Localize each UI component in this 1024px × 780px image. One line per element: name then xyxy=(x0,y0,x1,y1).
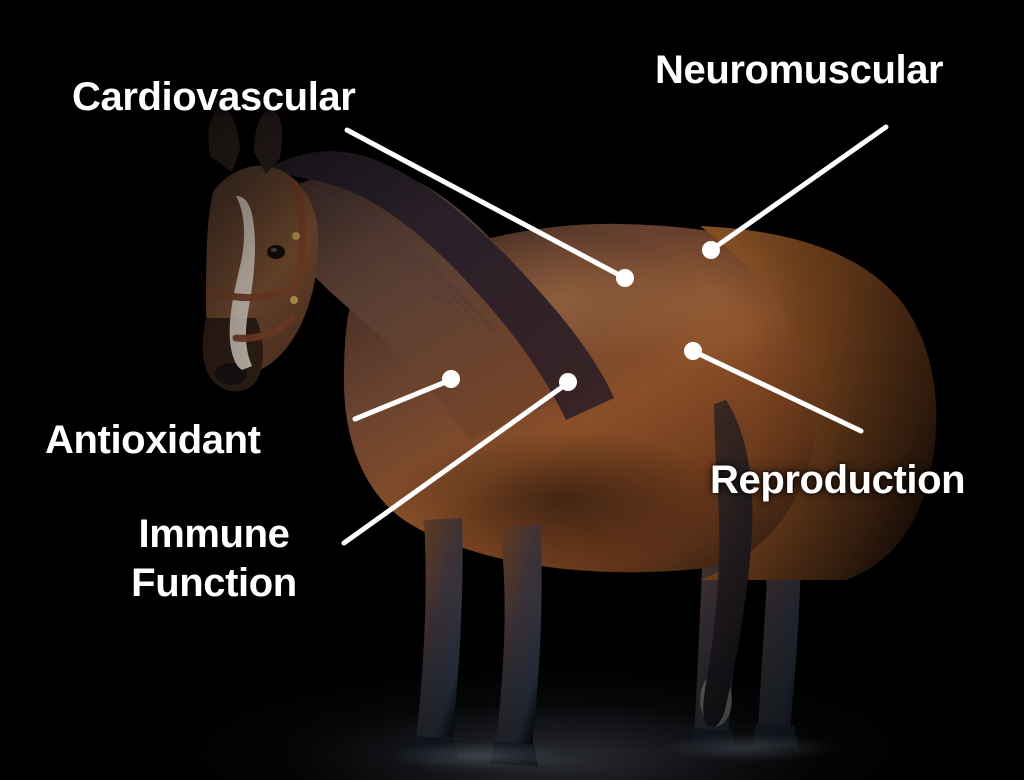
callout-label-reproduction: Reproduction xyxy=(710,458,965,502)
callout-overlay: Cardiovascular Neuromuscular Antioxidant… xyxy=(0,0,1024,780)
leader-line-cardiovascular xyxy=(347,130,623,277)
callout-label-neuromuscular: Neuromuscular xyxy=(655,48,943,92)
callout-dot-reproduction[interactable] xyxy=(684,342,702,360)
callout-label-antioxidant: Antioxidant xyxy=(45,418,261,462)
callout-dot-cardiovascular[interactable] xyxy=(616,269,634,287)
diagram-canvas: Cardiovascular Neuromuscular Antioxidant… xyxy=(0,0,1024,780)
callout-dot-neuromuscular[interactable] xyxy=(702,241,720,259)
leader-line-antioxidant xyxy=(355,381,448,419)
callout-label-immune-function: Immune Function xyxy=(118,510,310,608)
callout-dot-antioxidant[interactable] xyxy=(442,370,460,388)
leader-line-reproduction xyxy=(697,353,861,431)
callout-label-cardiovascular: Cardiovascular xyxy=(72,75,355,119)
leader-line-immune-function xyxy=(344,385,565,543)
leader-line-neuromuscular xyxy=(714,127,886,248)
callout-dot-immune-function[interactable] xyxy=(559,373,577,391)
